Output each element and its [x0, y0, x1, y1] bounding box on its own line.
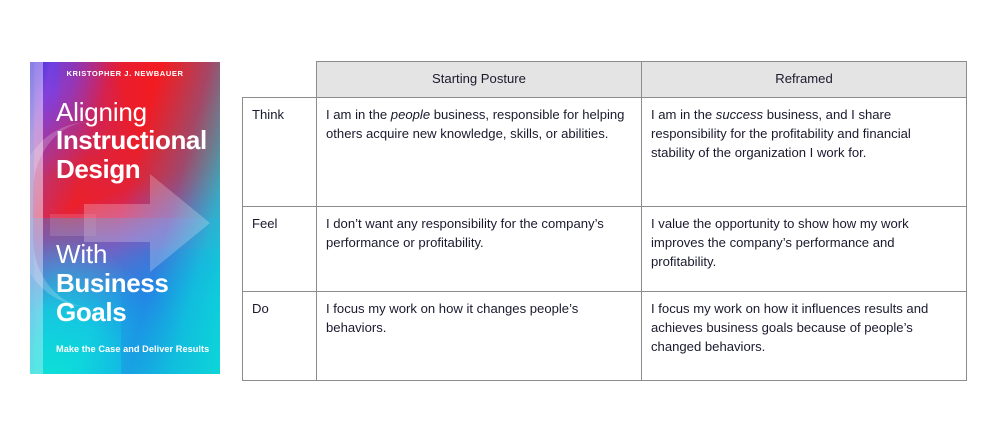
cover-title-block: Aligning Instructional Design [56, 98, 212, 184]
row-label-feel: Feel [243, 207, 317, 292]
cell-text-emphasis: people [391, 107, 430, 122]
cover-spine [30, 62, 43, 374]
cover-title-line-3: Design [56, 155, 212, 184]
posture-comparison-table: Starting Posture Reframed Think I am in … [242, 61, 967, 381]
cell-think-reframed: I am in the success business, and I shar… [642, 98, 967, 207]
cell-feel-reframed: I value the opportunity to show how my w… [642, 207, 967, 292]
cover-subtitle-line-2: Business [56, 269, 212, 298]
cell-think-starting-posture: I am in the people business, responsible… [317, 98, 642, 207]
table-corner-cell [243, 62, 317, 98]
cover-title-line-1: Aligning [56, 98, 212, 126]
book-cover-image: KRISTOPHER J. NEWBAUER Aligning Instruct… [30, 62, 220, 374]
cover-author-name: KRISTOPHER J. NEWBAUER [30, 69, 220, 78]
cell-text-emphasis: success [716, 107, 763, 122]
table-header-row: Starting Posture Reframed [243, 62, 967, 98]
cover-subtitle-block: With Business Goals [56, 240, 212, 327]
cover-tagline: Make the Case and Deliver Results [56, 344, 212, 354]
cover-subtitle-line-3: Goals [56, 298, 212, 327]
cell-feel-starting-posture: I don’t want any responsibility for the … [317, 207, 642, 292]
table-row-feel: Feel I don’t want any responsibility for… [243, 207, 967, 292]
cell-text-prefix: I am in the [326, 107, 391, 122]
column-header-reframed: Reframed [642, 62, 967, 98]
table-row-think: Think I am in the people business, respo… [243, 98, 967, 207]
cell-do-reframed: I focus my work on how it influences res… [642, 292, 967, 381]
cell-do-starting-posture: I focus my work on how it changes people… [317, 292, 642, 381]
cover-title-line-2: Instructional [56, 126, 212, 155]
column-header-starting-posture: Starting Posture [317, 62, 642, 98]
cell-text-prefix: I am in the [651, 107, 716, 122]
table-row-do: Do I focus my work on how it changes peo… [243, 292, 967, 381]
row-label-think: Think [243, 98, 317, 207]
cover-subtitle-line-1: With [56, 240, 212, 269]
row-label-do: Do [243, 292, 317, 381]
